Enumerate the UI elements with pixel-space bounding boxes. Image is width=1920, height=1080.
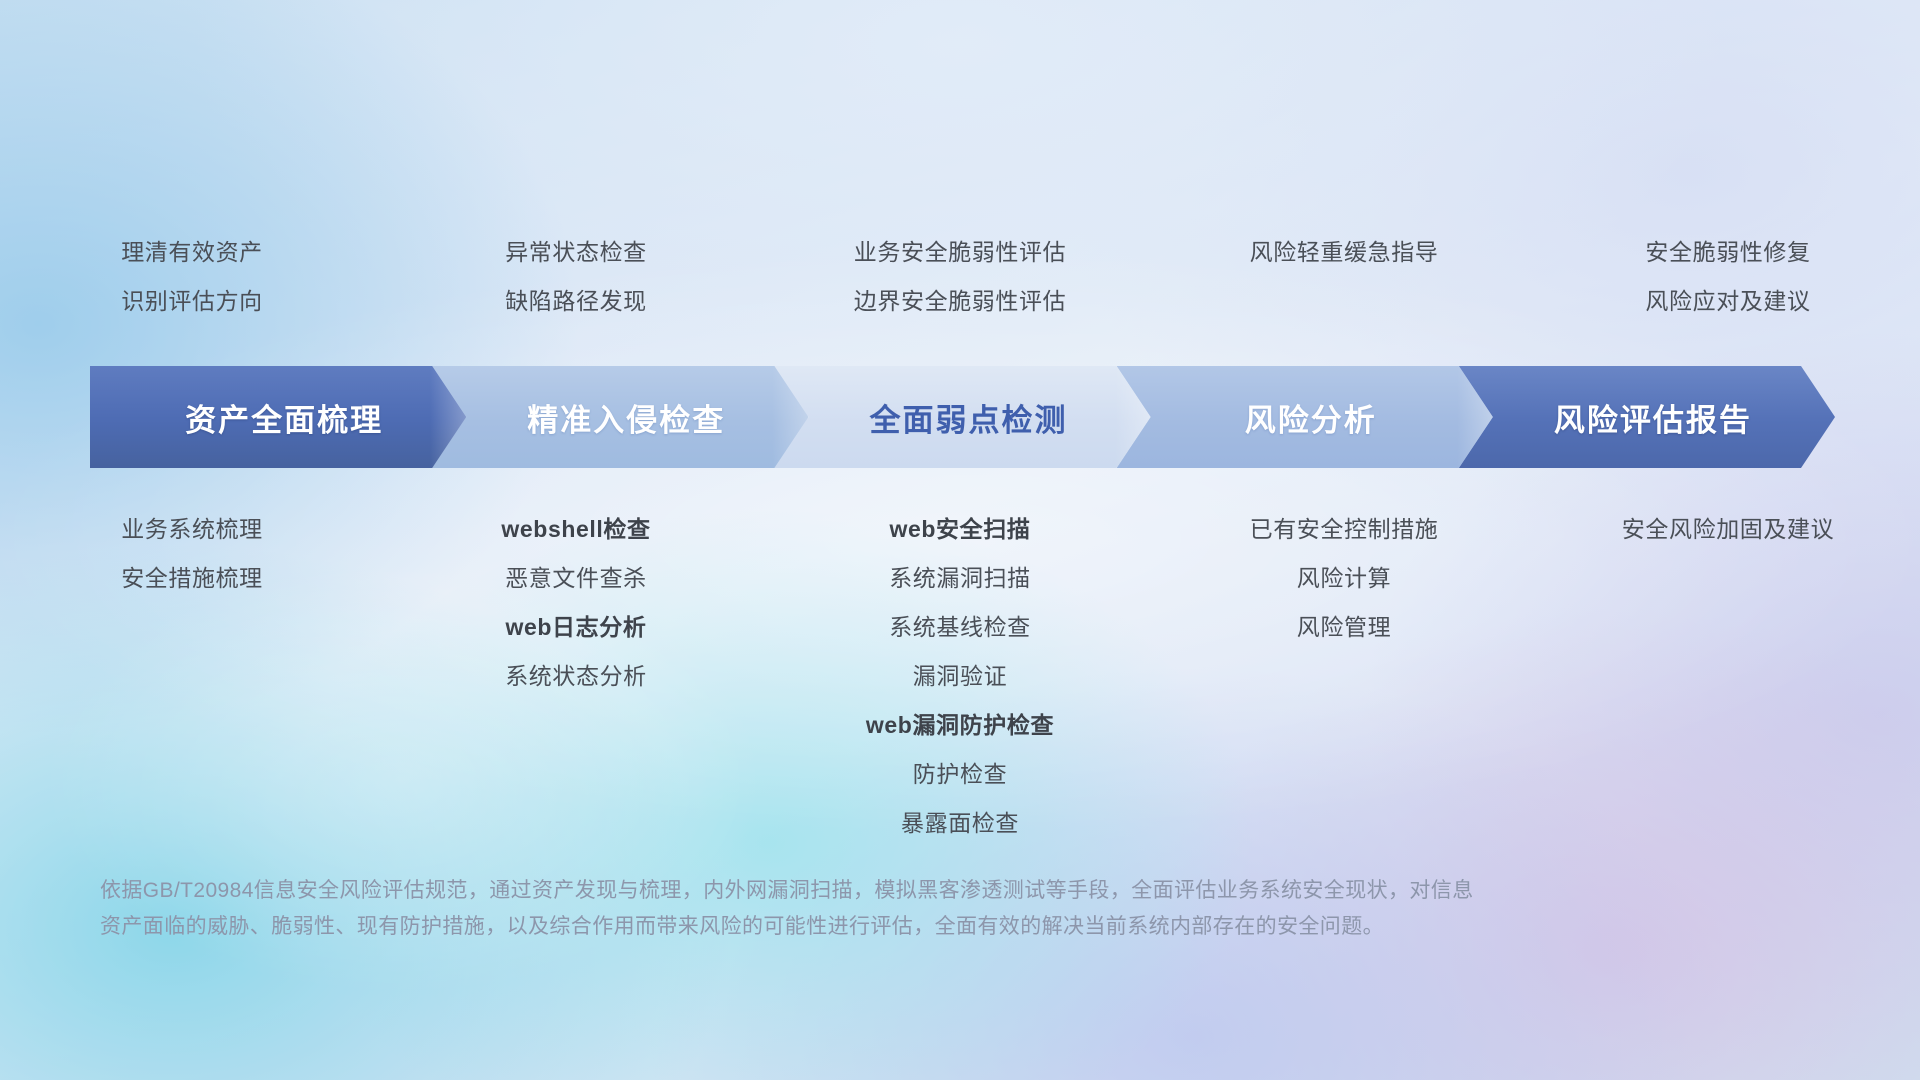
top-annotation-column: 业务安全脆弱性评估边界安全脆弱性评估 (768, 228, 1152, 338)
bottom-detail-item: 防护检查 (768, 750, 1152, 799)
bottom-detail-item: 安全措施梳理 (0, 554, 384, 603)
bottom-detail-item: 业务系统梳理 (0, 505, 384, 554)
process-stage-chevron[interactable]: 全面弱点检测 (774, 366, 1150, 468)
footer-description: 依据GB/T20984信息安全风险评估规范，通过资产发现与梳理，内外网漏洞扫描，… (100, 873, 1640, 945)
top-annotation-line: 安全脆弱性修复 (1536, 228, 1920, 277)
bottom-detail-column: 已有安全控制措施风险计算风险管理 (1152, 505, 1536, 652)
bottom-detail-column: 业务系统梳理安全措施梳理 (0, 505, 384, 603)
bottom-detail-item: 系统基线检查 (768, 603, 1152, 652)
bottom-detail-item: web日志分析 (384, 603, 768, 652)
top-annotation-line: 边界安全脆弱性评估 (768, 277, 1152, 326)
top-annotation-line: 业务安全脆弱性评估 (768, 228, 1152, 277)
process-stage-chevron[interactable]: 精准入侵检查 (432, 366, 808, 468)
top-annotation-line: 风险应对及建议 (1536, 277, 1920, 326)
top-annotation-line: 理清有效资产 (0, 228, 384, 277)
bottom-detail-row: 业务系统梳理安全措施梳理webshell检查恶意文件查杀web日志分析系统状态分… (0, 505, 1920, 848)
bottom-detail-column: 安全风险加固及建议 (1536, 505, 1920, 554)
top-annotation-row: 理清有效资产识别评估方向异常状态检查缺陷路径发现业务安全脆弱性评估边界安全脆弱性… (0, 228, 1920, 338)
process-stage-chevron[interactable]: 风险分析 (1117, 366, 1493, 468)
bottom-detail-column: webshell检查恶意文件查杀web日志分析系统状态分析 (384, 505, 768, 701)
top-annotation-column: 安全脆弱性修复风险应对及建议 (1536, 228, 1920, 338)
bottom-detail-item: 系统状态分析 (384, 652, 768, 701)
bottom-detail-item: 风险管理 (1152, 603, 1536, 652)
top-annotation-line: 风险轻重缓急指导 (1152, 228, 1536, 277)
bottom-detail-item: 漏洞验证 (768, 652, 1152, 701)
top-annotation-column: 理清有效资产识别评估方向 (0, 228, 384, 338)
bottom-detail-item: 系统漏洞扫描 (768, 554, 1152, 603)
process-stage-label: 资产全面梳理 (185, 395, 383, 440)
top-annotation-column: 风险轻重缓急指导 (1152, 228, 1536, 338)
top-annotation-line: 异常状态检查 (384, 228, 768, 277)
bottom-detail-item: web安全扫描 (768, 505, 1152, 554)
bottom-detail-item: web漏洞防护检查 (768, 701, 1152, 750)
process-stage-label: 全面弱点检测 (870, 395, 1068, 440)
process-chevron-banner: 资产全面梳理精准入侵检查全面弱点检测风险分析风险评估报告 (90, 366, 1835, 468)
bottom-detail-item: 恶意文件查杀 (384, 554, 768, 603)
bottom-detail-column: web安全扫描系统漏洞扫描系统基线检查漏洞验证web漏洞防护检查防护检查暴露面检… (768, 505, 1152, 848)
bottom-detail-item: webshell检查 (384, 505, 768, 554)
process-stage-chevron[interactable]: 风险评估报告 (1459, 366, 1835, 468)
footer-line: 依据GB/T20984信息安全风险评估规范，通过资产发现与梳理，内外网漏洞扫描，… (100, 873, 1640, 909)
top-annotation-line: 缺陷路径发现 (384, 277, 768, 326)
footer-line: 资产面临的威胁、脆弱性、现有防护措施，以及综合作用而带来风险的可能性进行评估，全… (100, 909, 1640, 945)
top-annotation-column: 异常状态检查缺陷路径发现 (384, 228, 768, 338)
bottom-detail-item: 安全风险加固及建议 (1536, 505, 1920, 554)
bottom-detail-item: 风险计算 (1152, 554, 1536, 603)
process-stage-chevron[interactable]: 资产全面梳理 (90, 366, 466, 468)
process-stage-label: 风险分析 (1245, 395, 1377, 440)
process-stage-label: 风险评估报告 (1554, 395, 1752, 440)
bottom-detail-item: 已有安全控制措施 (1152, 505, 1536, 554)
top-annotation-line: 识别评估方向 (0, 277, 384, 326)
diagram-stage: 理清有效资产识别评估方向异常状态检查缺陷路径发现业务安全脆弱性评估边界安全脆弱性… (0, 0, 1920, 1080)
process-stage-label: 精准入侵检查 (527, 395, 725, 440)
bottom-detail-item: 暴露面检查 (768, 799, 1152, 848)
